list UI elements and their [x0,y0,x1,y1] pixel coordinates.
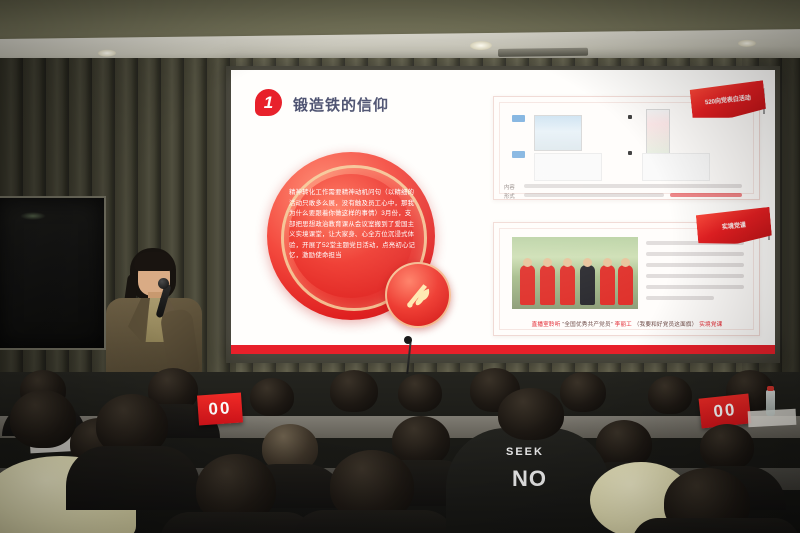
audience-head [498,388,564,440]
photo-person-head [603,258,612,267]
audience-head [560,372,606,412]
bullet-dot-icon [628,115,632,119]
text-block [642,153,710,181]
bullet-dot-icon [628,151,632,155]
photo-person [540,265,555,305]
table-placard-left: 00 [197,393,243,426]
placard-right-text: 00 [713,400,738,422]
audience-head [250,378,294,416]
presenter [98,248,226,388]
photo-person [618,265,633,305]
caption-suffix: 实境党课 [699,322,722,328]
card-top-row-key: 形式 [504,192,515,200]
jacket-text-line2: NO [512,466,547,492]
photo-person [600,265,615,305]
audience-head [648,376,692,414]
microphone-head-icon [158,278,169,289]
card-bottom-text-line [646,296,714,300]
thumbnail-boat [534,115,582,151]
presenter-hair-front [134,252,174,271]
card-top-row-line [524,184,742,188]
wall-display-panel [0,196,106,350]
blue-tag-icon [512,115,525,122]
jacket-text-line1: SEEK [506,446,544,458]
audience-area: 00 00 SEEK NO [0,372,800,533]
slide-number-badge: 1 [255,89,282,116]
card-top-highlight-line [670,193,742,197]
card-top-row-line [524,193,664,197]
caption-quote: “全国优秀共产党员” [562,322,612,328]
photo-person [520,265,535,305]
party-emblem-icon [385,262,451,328]
presentation-slide: 1 锻造铁的信仰 精神转化工作需要精神动机问句（以精细的活动只敢多么展，没有触及… [231,70,775,354]
ribbon-banner-bottom: 实境党课 [696,207,773,247]
caption-paren: （我要和好党员这面旗） [634,322,698,328]
audience-shoulders [292,510,456,533]
audience-head [398,374,442,412]
photo-person [560,265,575,305]
ceiling-light [98,50,116,57]
card-bottom-text-line [646,285,744,289]
thumbnail-flower [646,109,670,157]
photo-scene: 1 锻造铁的信仰 精神转化工作需要精神动机问句（以精细的活动只敢多么展，没有触及… [0,0,800,533]
audience-head [330,370,378,412]
audience-shoulders [160,512,316,533]
audience-shoulders [632,518,800,533]
podium-mic-head-icon [404,336,412,344]
ceiling-light [738,40,756,47]
group-photo [512,237,638,309]
card-bottom-text-line [646,263,744,267]
caption-name: 李丽工 [615,322,632,328]
audience-head [700,424,754,470]
photo-person-head [583,258,592,267]
photo-person-head [523,258,532,267]
blue-tag-icon [512,151,525,158]
ceiling-light [470,41,492,50]
placard-left-text: 00 [208,398,232,420]
slide-title: 锻造铁的信仰 [293,94,389,115]
air-vent [498,48,588,57]
audience-head [392,416,450,466]
photo-person-head [543,258,552,267]
bottle-cap [767,386,774,391]
card-bottom-text-line [646,252,744,256]
audience-shoulders [66,446,200,510]
photo-person-head [563,258,572,267]
ribbon-bottom-label: 实境党课 [722,221,747,232]
slide-bottom-bar [231,345,775,354]
photo-person [580,265,595,305]
ribbon-top-label: 520向党表白活动 [705,94,752,108]
card-top-row-key: 内容 [504,183,515,191]
red-circle-graphic: 精神转化工作需要精神动机问句（以精细的活动只敢多么展，没有触及员工心中，那我为什… [267,152,447,334]
photo-caption: 直播室聆听 “全国优秀共产党员” 李丽工 （我要和好党员这面旗） 实境党课 [506,320,748,328]
circle-body-text: 精神转化工作需要精神动机问句（以精细的活动只敢多么展，没有触及员工心中，那我为什… [289,188,417,262]
panel-glint [20,212,46,220]
projection-screen: 1 锻造铁的信仰 精神转化工作需要精神动机问句（以精细的活动只敢多么展，没有触及… [231,70,775,354]
text-block [534,153,602,181]
photo-person-head [621,258,630,267]
audience-head [10,390,76,448]
caption-prefix: 直播室聆听 [532,322,561,328]
card-bottom-text-line [646,274,744,278]
audience-head [596,420,652,468]
water-bottle [766,390,775,416]
